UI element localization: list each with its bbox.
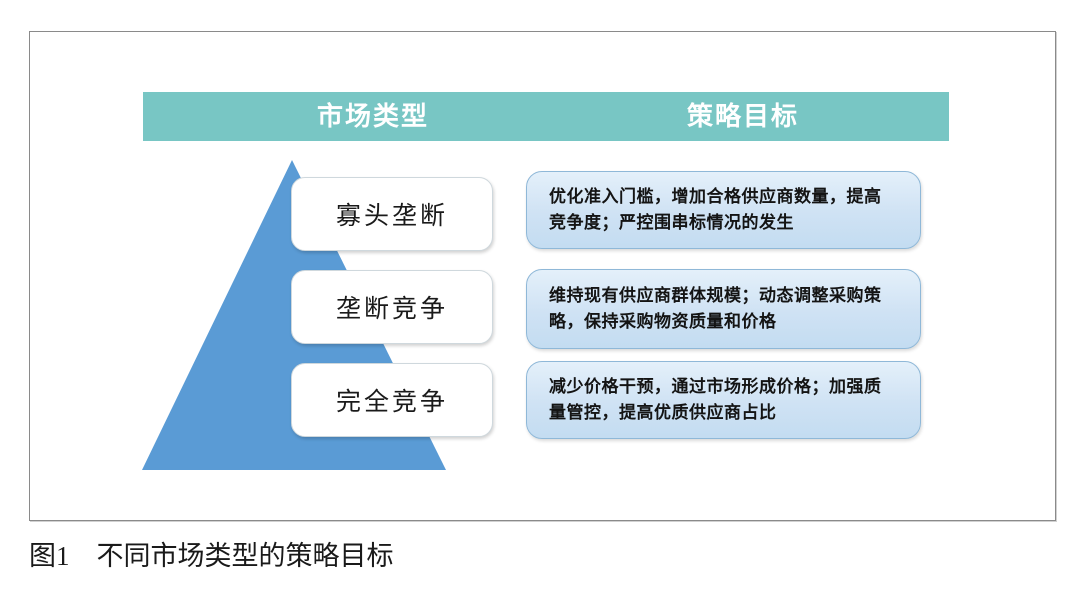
strategy-text: 优化准入门槛，增加合格供应商数量，提高竞争度；严控围串标情况的发生 <box>527 184 920 237</box>
tier-label: 寡头垄断 <box>336 196 448 232</box>
tier-box-oligopoly[interactable]: 寡头垄断 <box>291 177 493 251</box>
strategy-box-perfect-competition[interactable]: 减少价格干预，通过市场形成价格；加强质量管控，提高优质供应商占比 <box>526 361 921 439</box>
strategy-box-monopolistic-competition[interactable]: 维持现有供应商群体规模；动态调整采购策略，保持采购物资质量和价格 <box>526 269 921 349</box>
strategy-box-oligopoly[interactable]: 优化准入门槛，增加合格供应商数量，提高竞争度；严控围串标情况的发生 <box>526 171 921 249</box>
tier-label: 垄断竞争 <box>336 289 448 325</box>
strategy-text: 减少价格干预，通过市场形成价格；加强质量管控，提高优质供应商占比 <box>527 374 920 427</box>
header-column-market-type: 市场类型 <box>213 92 533 141</box>
figure-caption: 图1 不同市场类型的策略目标 <box>29 534 394 573</box>
figure-frame: 市场类型 策略目标 寡头垄断 垄断竞争 完全竞争 优化准入门槛，增加合格供应商数… <box>29 31 1056 521</box>
header-band: 市场类型 策略目标 <box>143 92 949 141</box>
tier-box-monopolistic-competition[interactable]: 垄断竞争 <box>291 270 493 344</box>
tier-label: 完全竞争 <box>336 382 448 418</box>
strategy-text: 维持现有供应商群体规模；动态调整采购策略，保持采购物资质量和价格 <box>527 283 920 336</box>
header-column-strategy-goal: 策略目标 <box>573 92 913 141</box>
tier-box-perfect-competition[interactable]: 完全竞争 <box>291 363 493 437</box>
